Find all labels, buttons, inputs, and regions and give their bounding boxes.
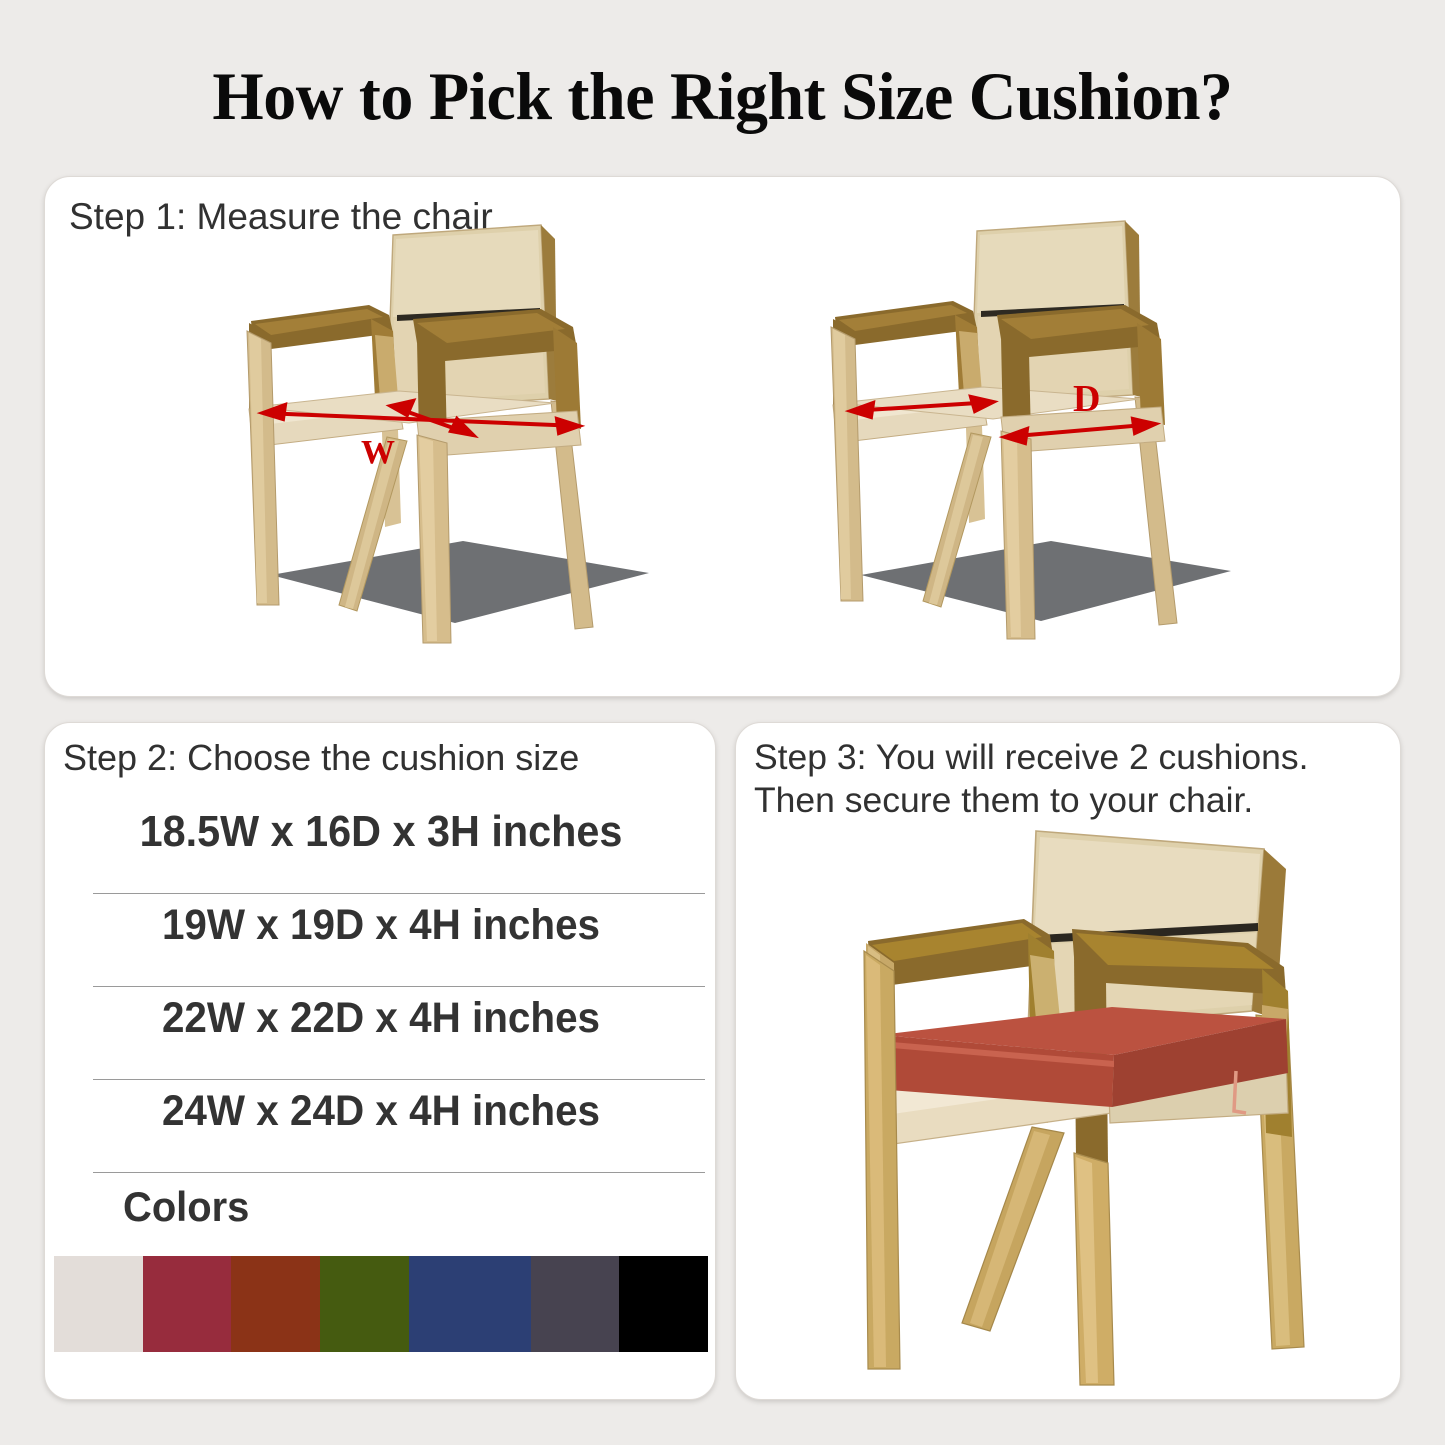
chair-with-cushion-illustration [796, 823, 1381, 1388]
size-option-row[interactable]: 19W x 19D x 4H inches [45, 894, 716, 987]
page-title: How to Pick the Right Size Cushion? [22, 58, 1424, 134]
step2-label: Step 2: Choose the cushion size [63, 736, 579, 779]
size-option-label: 19W x 19D x 4H inches [162, 900, 600, 950]
size-option-label: 24W x 24D x 4H inches [162, 1086, 600, 1136]
color-swatch-rust[interactable] [231, 1256, 320, 1352]
color-swatch-strip [54, 1256, 708, 1352]
step2-card: Step 2: Choose the cushion size 18.5W x … [44, 722, 716, 1400]
size-option-row[interactable]: 18.5W x 16D x 3H inches [45, 801, 716, 894]
chair-depth-illustration: D [825, 219, 1245, 649]
color-swatch-olive-green[interactable] [320, 1256, 409, 1352]
size-option-row[interactable]: 24W x 24D x 4H inches [45, 1080, 716, 1173]
step3-label: Step 3: You will receive 2 cushions. The… [754, 736, 1309, 822]
color-swatch-navy-blue[interactable] [409, 1256, 531, 1352]
depth-letter-label: D [1073, 378, 1100, 420]
row-divider [93, 1172, 705, 1173]
step3-label-line1: Step 3: You will receive 2 cushions. [754, 737, 1309, 777]
chair-width-illustration: W [241, 223, 661, 653]
color-swatch-black[interactable] [619, 1256, 708, 1352]
color-swatch-slate-gray[interactable] [531, 1256, 620, 1352]
size-option-label: 18.5W x 16D x 3H inches [140, 807, 623, 857]
color-swatch-crimson[interactable] [143, 1256, 232, 1352]
cushion-size-list: 18.5W x 16D x 3H inches 19W x 19D x 4H i… [45, 801, 716, 1173]
size-option-label: 22W x 22D x 4H inches [162, 993, 600, 1043]
step1-card: Step 1: Measure the chair [44, 176, 1401, 697]
size-option-row[interactable]: 22W x 22D x 4H inches [45, 987, 716, 1080]
step3-card: Step 3: You will receive 2 cushions. The… [735, 722, 1401, 1400]
step3-label-line2: Then secure them to your chair. [754, 779, 1309, 822]
colors-heading: Colors [123, 1183, 249, 1231]
width-letter-label: W [361, 434, 395, 471]
floor-shadow [271, 541, 649, 623]
color-swatch-cream[interactable] [54, 1256, 143, 1352]
